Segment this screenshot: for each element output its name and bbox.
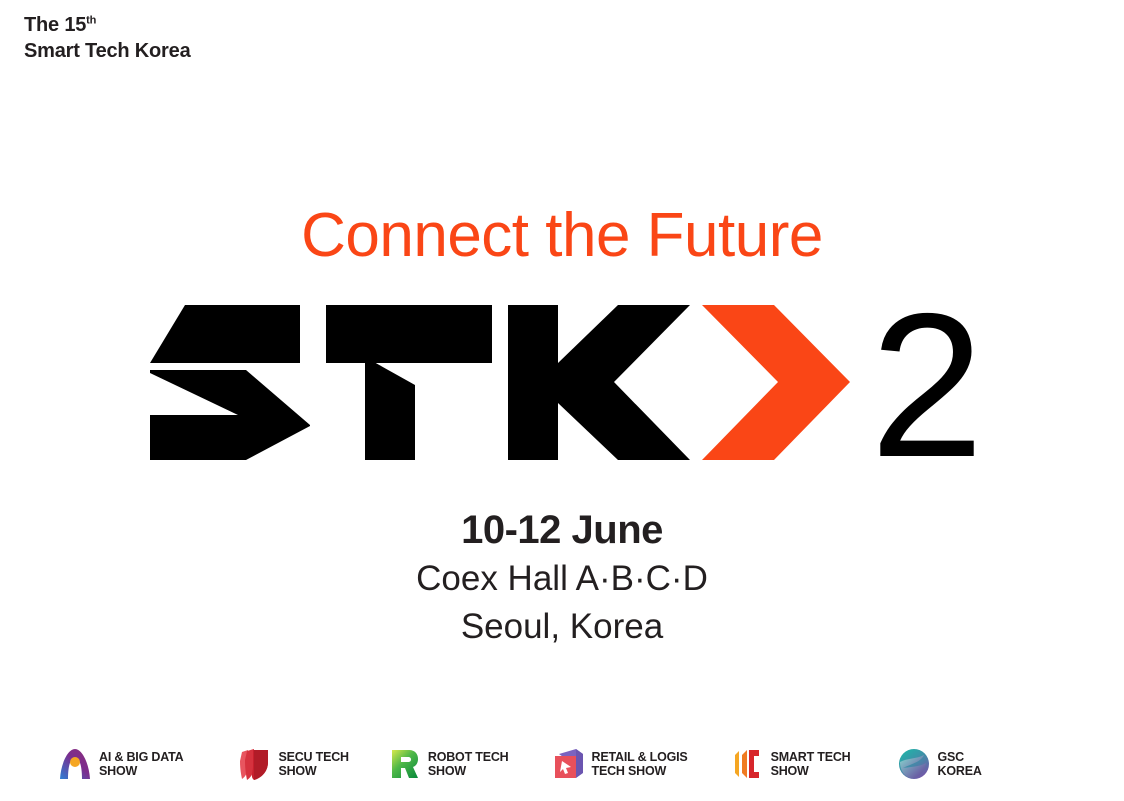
logo-t-crossbar <box>326 305 492 363</box>
edition-ordinal-suffix: th <box>86 14 96 26</box>
cursor-box-icon <box>551 747 585 781</box>
brand-label-line2: SHOW <box>428 764 509 778</box>
brand-retail-logis-tech-show[interactable]: RETAIL & LOGIS TECH SHOW <box>551 742 688 786</box>
brand-robot-tech-show-label: ROBOT TECH SHOW <box>428 750 509 778</box>
logo-s-lower-stroke <box>150 370 310 460</box>
brand-retail-logis-tech-show-label: RETAIL & LOGIS TECH SHOW <box>592 750 688 778</box>
brand-secu-tech-show[interactable]: SECU TECH SHOW <box>237 742 348 786</box>
logo-t-stem <box>365 357 415 460</box>
arch-gateway-icon <box>58 747 92 781</box>
logo-s-top-stroke <box>150 305 300 363</box>
brand-ai-big-data-show-label: AI & BIG DATA SHOW <box>99 750 183 778</box>
brand-label-line1: SECU TECH <box>278 750 348 764</box>
brand-label-line1: ROBOT TECH <box>428 750 509 764</box>
brand-label-line2: SHOW <box>99 764 183 778</box>
brand-robot-tech-show[interactable]: ROBOT TECH SHOW <box>387 742 509 786</box>
edition-line: The 15th <box>24 12 191 38</box>
nested-brackets-icon <box>730 747 764 781</box>
brand-label-line2: TECH SHOW <box>592 764 688 778</box>
brand-label-line1: GSC <box>938 750 982 764</box>
tagline: Connect the Future <box>0 201 1124 271</box>
brand-secu-tech-show-label: SECU TECH SHOW <box>278 750 348 778</box>
logo-year: 26 <box>870 305 990 460</box>
event-edition-title: The 15th Smart Tech Korea <box>24 12 191 64</box>
edition-number: The 15 <box>24 14 86 36</box>
brand-ai-big-data-show[interactable]: AI & BIG DATA SHOW <box>58 742 183 786</box>
brand-smart-tech-show-label: SMART TECH SHOW <box>771 750 851 778</box>
brand-gsc-korea-label: GSC KOREA <box>938 750 982 778</box>
event-details: 10-12 June Coex Hall A·B·C·D Seoul, Kore… <box>0 505 1124 651</box>
logo-k-stem <box>508 305 558 460</box>
event-date: 10-12 June <box>0 505 1124 555</box>
brand-label-line2: SHOW <box>278 764 348 778</box>
brand-label-line1: AI & BIG DATA <box>99 750 183 764</box>
brand-label-line2: SHOW <box>771 764 851 778</box>
logo-accent-chevron <box>702 305 850 460</box>
event-venue: Coex Hall A·B·C·D <box>0 555 1124 603</box>
brand-label-line1: RETAIL & LOGIS <box>592 750 688 764</box>
globe-sphere-icon <box>897 747 931 781</box>
event-city: Seoul, Korea <box>0 603 1124 651</box>
robot-head-r-icon <box>387 747 421 781</box>
stk26-logo-lockup: 26 <box>150 305 990 460</box>
logo-k-arms <box>558 305 690 460</box>
brand-smart-tech-show[interactable]: SMART TECH SHOW <box>730 742 851 786</box>
brand-label-line1: SMART TECH <box>771 750 851 764</box>
co-located-shows-strip: AI & BIG DATA SHOW SECU TECH SHOW <box>58 740 1088 788</box>
shield-icon <box>237 747 271 781</box>
brand-gsc-korea[interactable]: GSC KOREA <box>897 742 982 786</box>
brand-label-line2: KOREA <box>938 764 982 778</box>
event-name: Smart Tech Korea <box>24 38 191 64</box>
